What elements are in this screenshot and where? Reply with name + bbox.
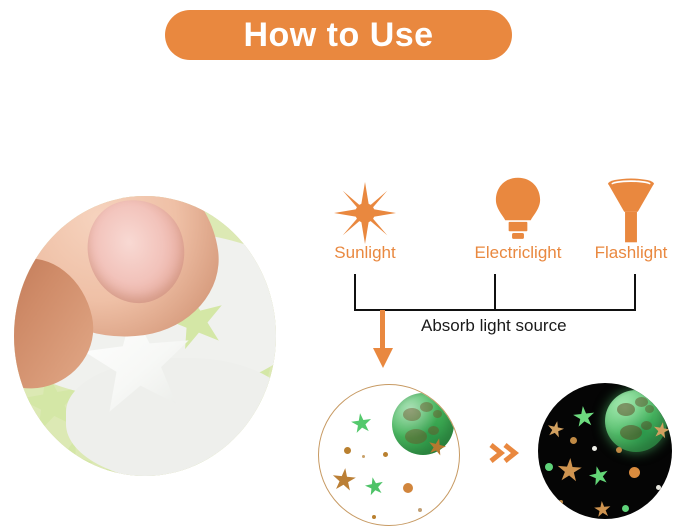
glow-in-dark-result — [538, 383, 672, 519]
accent-dot — [559, 500, 563, 504]
green-star — [572, 405, 596, 429]
accent-dot — [344, 447, 351, 454]
daylight-result — [318, 384, 460, 526]
light-source-label: Flashlight — [583, 244, 679, 261]
double-chevron-right-icon — [485, 441, 525, 465]
accent-dot — [403, 483, 413, 493]
accent-dot — [656, 485, 661, 490]
light-source-flashlight: Flashlight — [583, 172, 679, 261]
accent-dot — [570, 437, 577, 444]
thumbnail — [77, 196, 195, 313]
light-source-label: Sunlight — [305, 244, 425, 261]
accent-dot — [629, 467, 640, 478]
moon-crater — [617, 403, 635, 416]
accent-dot — [418, 508, 422, 512]
down-arrow-icon — [372, 310, 394, 370]
light-source-electriclight: Electriclight — [448, 172, 588, 261]
accent-dot — [372, 515, 376, 519]
sun-icon — [305, 172, 425, 244]
light-source-sunlight: Sunlight — [305, 172, 425, 261]
accent-dot — [622, 505, 629, 512]
sticker-backing-paper — [66, 358, 276, 476]
page-title-banner: How to Use — [165, 10, 512, 60]
bracket-connector — [354, 274, 636, 312]
green-star — [587, 464, 611, 488]
accent-dot — [545, 463, 553, 471]
moon-crater — [433, 410, 442, 418]
glow-moon — [605, 390, 667, 452]
moon-crater — [620, 425, 642, 440]
accent-dot — [592, 446, 597, 451]
accent-dot — [362, 455, 365, 458]
brown-star — [330, 466, 356, 492]
moon-crater — [641, 421, 652, 430]
brown-star — [546, 419, 566, 439]
brown-star — [594, 501, 612, 519]
light-bulb-icon — [448, 172, 588, 244]
flashlight-icon — [583, 172, 679, 244]
moon-crater — [645, 405, 654, 413]
green-star — [350, 412, 374, 436]
moon-crater — [405, 429, 427, 444]
page-title: How to Use — [243, 18, 433, 52]
absorb-light-source-label: Absorb light source — [421, 317, 567, 334]
brown-star — [556, 457, 583, 484]
green-star — [363, 476, 386, 499]
moon-crater — [420, 402, 433, 412]
moon-crater — [403, 408, 421, 421]
accent-dot — [616, 447, 622, 453]
moon-crater — [428, 426, 439, 435]
accent-dot — [383, 452, 388, 457]
sticker-peel-photo — [14, 196, 276, 476]
light-source-label: Electriclight — [448, 244, 588, 261]
